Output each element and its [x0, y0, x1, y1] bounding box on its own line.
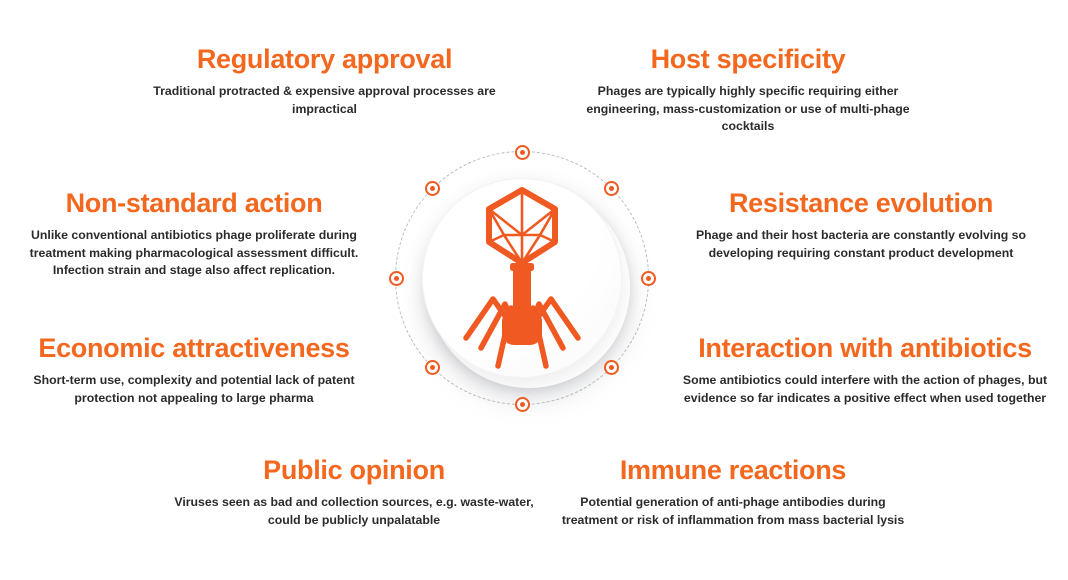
ring-node-s [515, 397, 530, 412]
item-title: Host specificity [568, 44, 928, 74]
item-title: Interaction with antibiotics [672, 333, 1058, 363]
item-body: Phage and their host bacteria are consta… [688, 227, 1034, 262]
item-host-specificity: Host specificity Phages are typically hi… [568, 44, 928, 136]
item-body: Traditional protracted & expensive appro… [132, 83, 517, 118]
item-title: Regulatory approval [132, 44, 517, 74]
item-interaction-with-antibiotics: Interaction with antibiotics Some antibi… [672, 333, 1058, 407]
item-title: Economic attractiveness [8, 333, 380, 363]
item-body: Short-term use, complexity and potential… [8, 372, 380, 407]
item-immune-reactions: Immune reactions Potential generation of… [560, 455, 906, 529]
item-title: Resistance evolution [688, 188, 1034, 218]
radial-infographic: Regulatory approval Traditional protract… [0, 0, 1068, 580]
item-title: Immune reactions [560, 455, 906, 485]
ring-node-ne [604, 181, 619, 196]
ring-node-n [515, 145, 530, 160]
ring-node-se [604, 360, 619, 375]
item-regulatory-approval: Regulatory approval Traditional protract… [132, 44, 517, 118]
item-body: Viruses seen as bad and collection sourc… [168, 494, 540, 529]
item-non-standard-action: Non-standard action Unlike conventional … [8, 188, 380, 280]
bacteriophage-icon [439, 178, 605, 378]
item-body: Unlike conventional antibiotics phage pr… [8, 227, 380, 279]
item-public-opinion: Public opinion Viruses seen as bad and c… [168, 455, 540, 529]
item-body: Some antibiotics could interfere with th… [672, 372, 1058, 407]
item-body: Phages are typically highly specific req… [568, 83, 928, 135]
item-title: Public opinion [168, 455, 540, 485]
item-resistance-evolution: Resistance evolution Phage and their hos… [688, 188, 1034, 262]
item-body: Potential generation of anti-phage antib… [560, 494, 906, 529]
ring-node-w [389, 271, 404, 286]
ring-node-e [641, 271, 656, 286]
item-title: Non-standard action [8, 188, 380, 218]
item-economic-attractiveness: Economic attractiveness Short-term use, … [8, 333, 380, 407]
